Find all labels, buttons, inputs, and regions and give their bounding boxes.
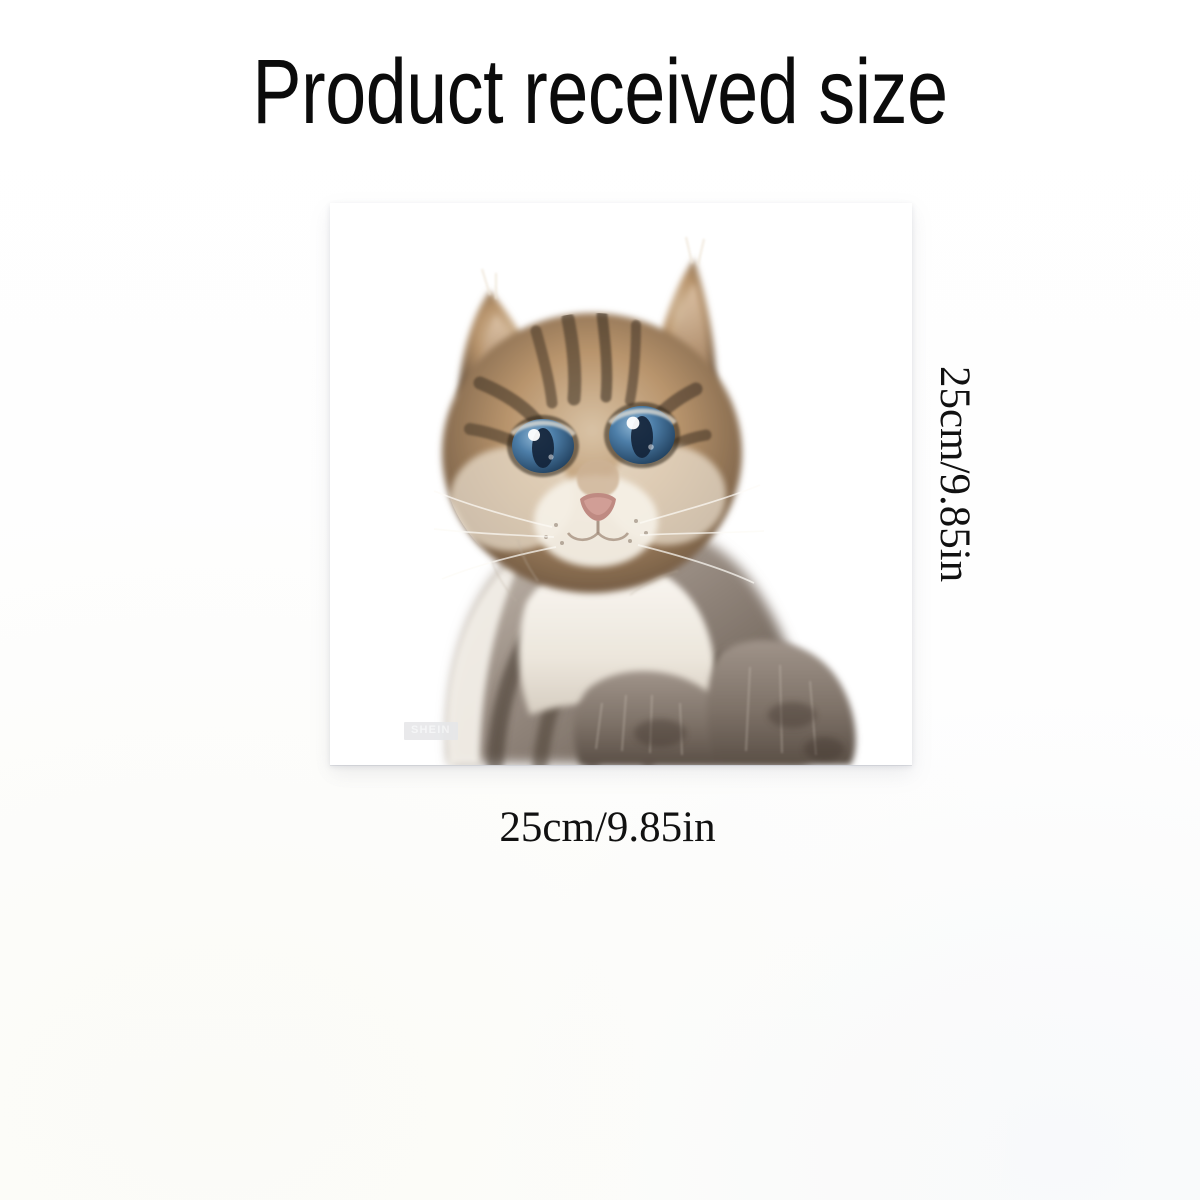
poster-canvas: SHEIN (330, 203, 912, 765)
page-title: Product received size (120, 46, 1080, 138)
poster-preview: SHEIN (330, 203, 912, 765)
watermark-badge: SHEIN (404, 722, 458, 740)
width-dimension-label: 25cm/9.85in (0, 806, 1200, 849)
cat-artwork (330, 203, 912, 765)
height-dimension-label: 25cm/9.85in (933, 366, 976, 582)
